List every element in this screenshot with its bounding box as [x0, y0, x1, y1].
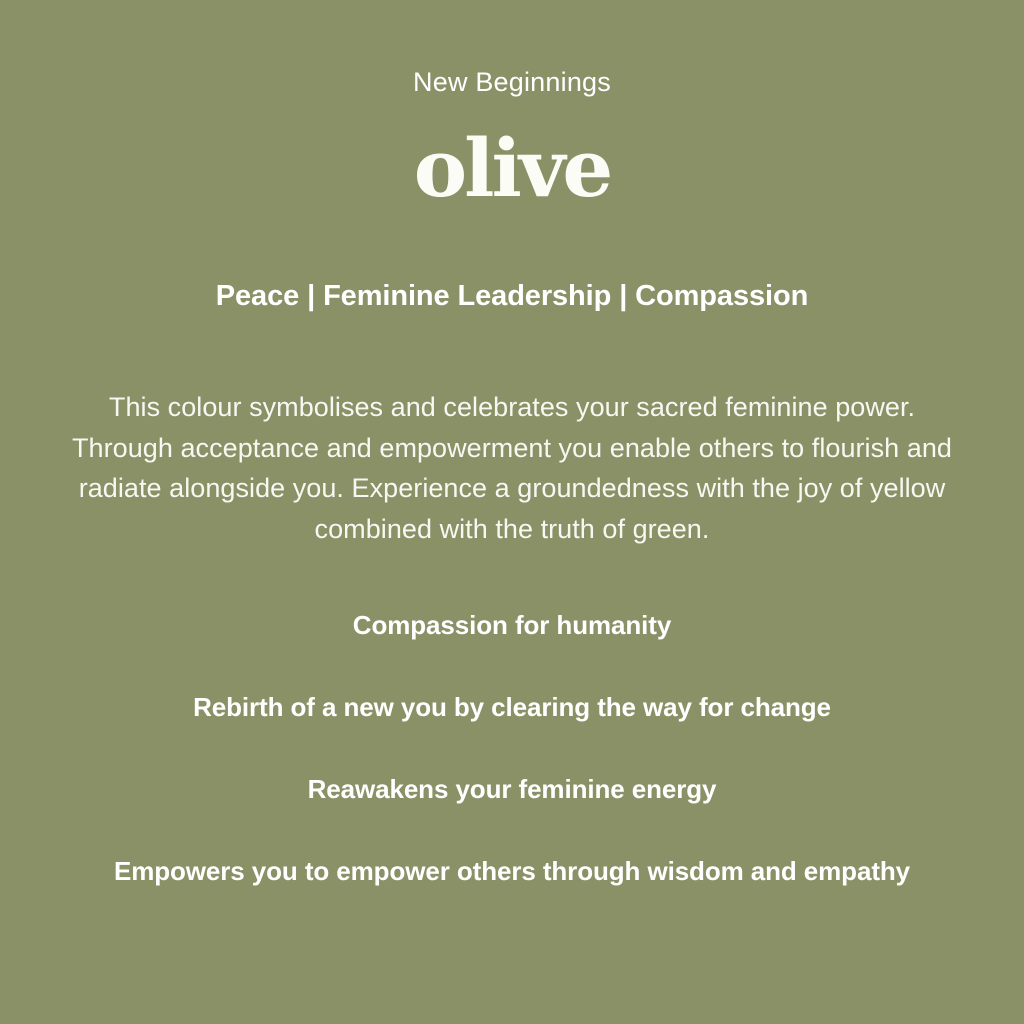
statement-item: Compassion for humanity — [62, 605, 962, 646]
statement-list: Compassion for humanity Rebirth of a new… — [62, 605, 962, 892]
keywords-line: Peace | Feminine Leadership | Compassion — [0, 278, 1024, 314]
olive-colour-card: New Beginnings olive Peace | Feminine Le… — [0, 0, 1024, 1024]
statement-item: Reawakens your feminine energy — [62, 769, 962, 810]
card-eyebrow-heading: New Beginnings — [0, 66, 1024, 98]
olive-wordmark: olive — [0, 126, 1024, 210]
statement-item: Empowers you to empower others through w… — [62, 851, 962, 892]
description-paragraph: This colour symbolises and celebrates yo… — [60, 387, 965, 549]
statement-item: Rebirth of a new you by clearing the way… — [62, 687, 962, 728]
